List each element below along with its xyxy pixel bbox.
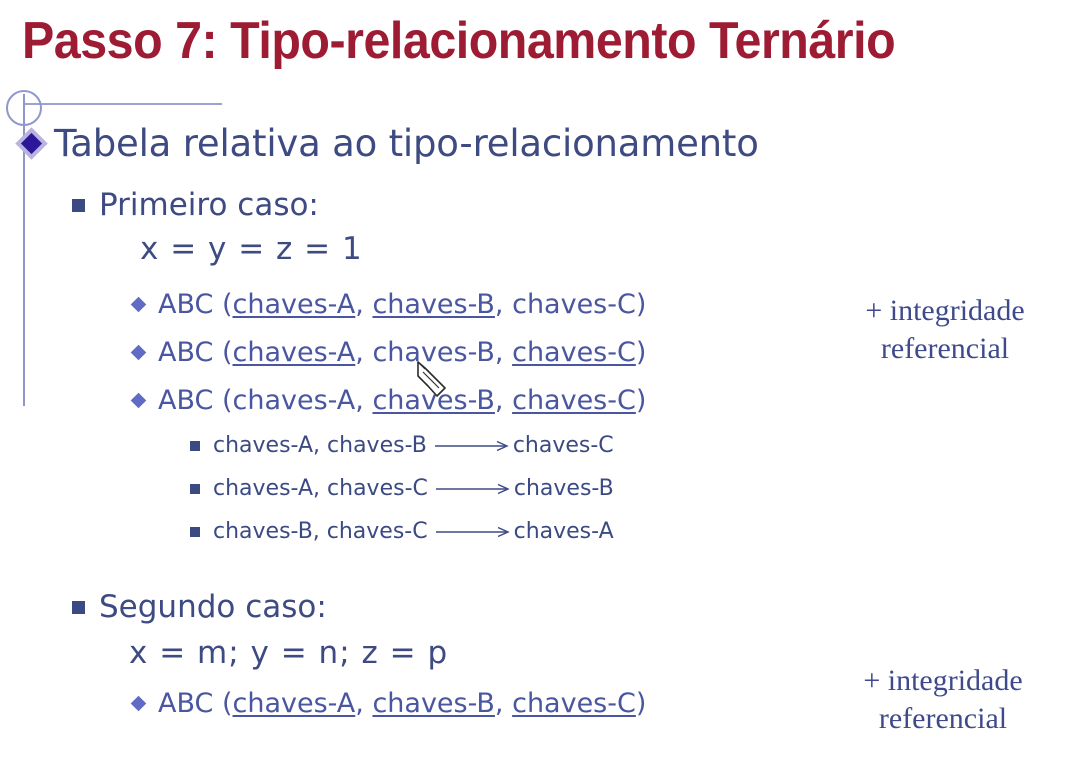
functional-dependency-row: chaves-A, chaves-Bchaves-C <box>190 435 614 457</box>
dependency-determinant: chaves-A, chaves-B <box>213 435 427 457</box>
separator: , <box>495 385 512 416</box>
small-diamond-bullet-icon <box>131 393 147 409</box>
relation-expression: ABC (chaves-A, chaves-B, chaves-C) <box>158 690 646 717</box>
dependency-determinant: chaves-A, chaves-C <box>213 478 428 500</box>
small-diamond-bullet-icon <box>131 345 147 361</box>
square-bullet-icon <box>72 601 85 614</box>
relation-prefix: ABC ( <box>158 289 233 320</box>
case1-note-line2: referencial <box>830 330 1060 368</box>
separator: , <box>355 385 372 416</box>
case2-integrity-note: + integridade referencial <box>818 662 1068 739</box>
case1-heading-label: Primeiro caso: <box>99 190 319 221</box>
relation-row: ABC (chaves-A, chaves-B, chaves-C) <box>133 291 646 318</box>
dependency-arrow-icon <box>435 439 511 453</box>
separator: , <box>495 337 512 368</box>
functional-dependency-row: chaves-B, chaves-Cchaves-A <box>190 521 614 543</box>
relation-attribute-key: chaves-C <box>512 337 636 368</box>
case2-heading-label: Segundo caso: <box>99 592 327 623</box>
relation-row: ABC (chaves-A, chaves-B, chaves-C) <box>133 387 646 414</box>
separator: , <box>355 289 372 320</box>
bullet-level1: Tabela relativa ao tipo-relacionamento <box>14 125 759 162</box>
case2-note-line1: + integridade <box>818 662 1068 700</box>
bullet-level1-label: Tabela relativa ao tipo-relacionamento <box>54 125 759 162</box>
case2-note-line2: referencial <box>818 700 1068 738</box>
relation-suffix: ) <box>636 289 647 320</box>
slide-title: Passo 7: Tipo-relacionamento Ternário <box>22 14 989 69</box>
dependency-arrow-icon <box>436 525 512 539</box>
case1-integrity-note: + integridade referencial <box>830 292 1060 369</box>
separator: , <box>495 289 512 320</box>
relation-attribute: chaves-B <box>372 337 494 368</box>
relation-attribute-key: chaves-B <box>372 688 494 719</box>
relation-attribute-key: chaves-B <box>372 385 494 416</box>
separator: , <box>495 688 512 719</box>
relation-attribute-key: chaves-A <box>233 289 356 320</box>
relation-attribute-key: chaves-A <box>233 337 356 368</box>
relation-attribute-key: chaves-C <box>512 688 636 719</box>
case1-heading: Primeiro caso: <box>72 190 319 221</box>
case1-note-line1: + integridade <box>830 292 1060 330</box>
dependency-dependent: chaves-A <box>514 521 614 543</box>
relation-suffix: ) <box>636 688 647 719</box>
diamond-bullet-icon <box>14 127 48 161</box>
dependency-dependent: chaves-C <box>513 435 614 457</box>
relation-prefix: ABC ( <box>158 688 233 719</box>
relation-suffix: ) <box>636 337 647 368</box>
square-bullet-icon <box>72 199 85 212</box>
dependency-dependent: chaves-B <box>514 478 614 500</box>
small-diamond-bullet-icon <box>131 297 147 313</box>
relation-row: ABC (chaves-A, chaves-B, chaves-C) <box>133 339 646 366</box>
relation-attribute-key: chaves-A <box>233 688 356 719</box>
small-diamond-bullet-icon <box>131 696 147 712</box>
relation-expression: ABC (chaves-A, chaves-B, chaves-C) <box>158 387 646 414</box>
relation-attribute: chaves-C <box>512 289 636 320</box>
case2-heading: Segundo caso: <box>72 592 327 623</box>
slide-canvas: Passo 7: Tipo-relacionamento Ternário Ta… <box>0 0 1074 758</box>
case2-equation: x = m; y = n; z = p <box>129 638 448 669</box>
relation-row: ABC (chaves-A, chaves-B, chaves-C) <box>133 690 646 717</box>
square-bullet-icon <box>190 527 200 537</box>
functional-dependency-row: chaves-A, chaves-Cchaves-B <box>190 478 614 500</box>
relation-expression: ABC (chaves-A, chaves-B, chaves-C) <box>158 339 646 366</box>
dependency-determinant: chaves-B, chaves-C <box>213 521 428 543</box>
relation-attribute-key: chaves-C <box>512 385 636 416</box>
relation-attribute-key: chaves-B <box>372 289 494 320</box>
square-bullet-icon <box>190 484 200 494</box>
relation-prefix: ABC ( <box>158 385 233 416</box>
separator: , <box>355 337 372 368</box>
case1-equation: x = y = z = 1 <box>140 234 363 265</box>
relation-expression: ABC (chaves-A, chaves-B, chaves-C) <box>158 291 646 318</box>
relation-prefix: ABC ( <box>158 337 233 368</box>
dependency-arrow-icon <box>436 482 512 496</box>
square-bullet-icon <box>190 441 200 451</box>
relation-attribute: chaves-A <box>233 385 356 416</box>
relation-suffix: ) <box>636 385 647 416</box>
separator: , <box>355 688 372 719</box>
